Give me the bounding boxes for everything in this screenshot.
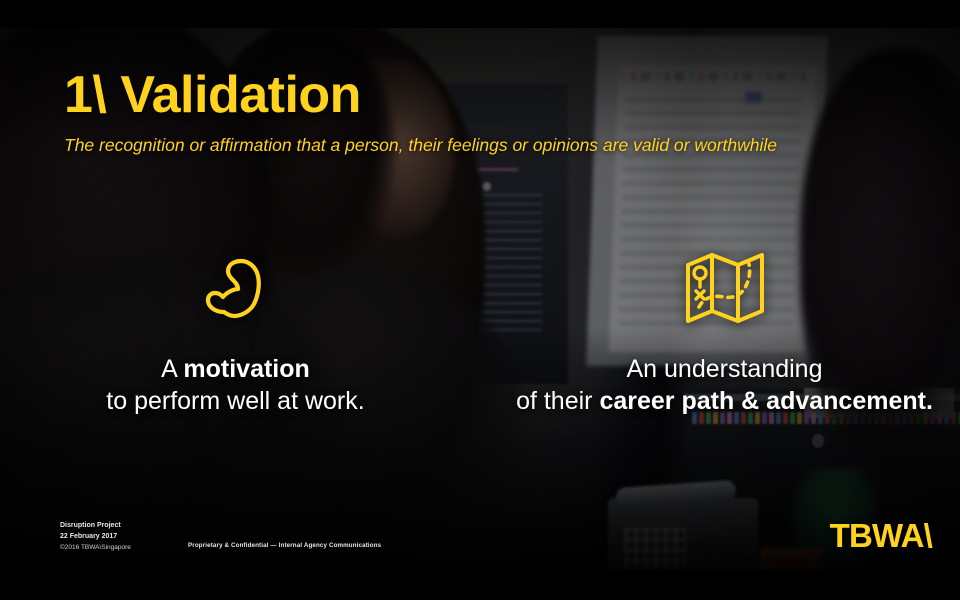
letterbox-bar-bottom (0, 570, 960, 600)
caption-text-plain: to perform well at work. (106, 387, 364, 415)
slide-title: 1\ Validation (64, 69, 361, 121)
caption-line-1: An understanding (516, 354, 933, 386)
two-column-block: A motivation to perform well at work. (0, 238, 960, 418)
caption-career-path: An understanding of their career path & … (516, 354, 933, 418)
caption-text-plain: A (161, 355, 183, 383)
caption-text-bold: motivation (183, 355, 309, 383)
caption-text-bold: career path & advancement. (599, 387, 932, 415)
footer-confidentiality-notice: Proprietary & Confidential — Internal Ag… (188, 542, 381, 549)
caption-text-plain: An understanding (627, 355, 823, 383)
flexed-bicep-icon (194, 238, 278, 338)
folded-map-icon (682, 238, 768, 338)
footer-project-name: Disruption Project (60, 521, 131, 532)
caption-motivation: A motivation to perform well at work. (106, 354, 364, 418)
footer-copyright: ©2016 TBWA\Singapore (60, 543, 131, 553)
slide-content: 1\ Validation The recognition or affirma… (0, 0, 960, 600)
footer-date: 22 February 2017 (60, 532, 131, 543)
caption-line-2: to perform well at work. (106, 386, 364, 418)
presentation-slide: 1\ Validation The recognition or affirma… (0, 0, 960, 600)
letterbox-bar-top (0, 0, 960, 28)
tbwa-logo: TBWA\ (830, 519, 932, 552)
column-motivation: A motivation to perform well at work. (0, 238, 479, 418)
slide-subtitle: The recognition or affirmation that a pe… (64, 135, 777, 156)
footer-project-info: Disruption Project 22 February 2017 ©201… (60, 521, 131, 553)
caption-text-plain: of their (516, 387, 599, 415)
column-career-path: An understanding of their career path & … (479, 238, 960, 418)
caption-line-2: of their career path & advancement. (516, 386, 933, 418)
caption-line-1: A motivation (106, 354, 364, 386)
